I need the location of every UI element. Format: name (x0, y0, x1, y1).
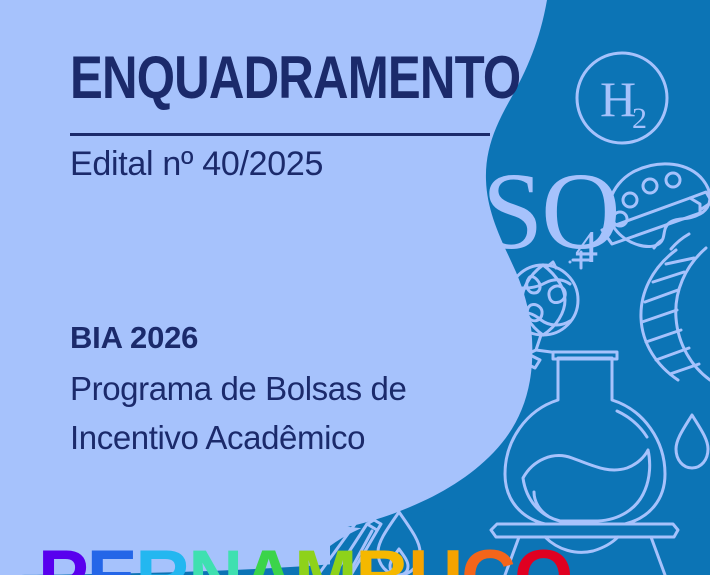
edital-number: Edital nº 40/2025 (70, 145, 323, 184)
title-underline (70, 133, 490, 136)
wordmark-letter-9: O (514, 540, 571, 575)
program-name-line-1: Programa de Bolsas de (70, 370, 406, 408)
program-code: BIA 2026 (70, 320, 198, 356)
text-column: ENQUADRAMENTO Edital nº 40/2025 BIA 2026… (0, 0, 520, 575)
so4-subscript: 4 (575, 221, 598, 272)
h2-label: H (600, 71, 636, 127)
page-title: ENQUADRAMENTO (70, 48, 520, 108)
banner-root: H 2 SO 4 ENQUADRAMENTO Edital nº 40/2025… (0, 0, 710, 575)
program-name-line-2: Incentivo Acadêmico (70, 419, 365, 457)
h2-subscript: 2 (632, 102, 647, 135)
